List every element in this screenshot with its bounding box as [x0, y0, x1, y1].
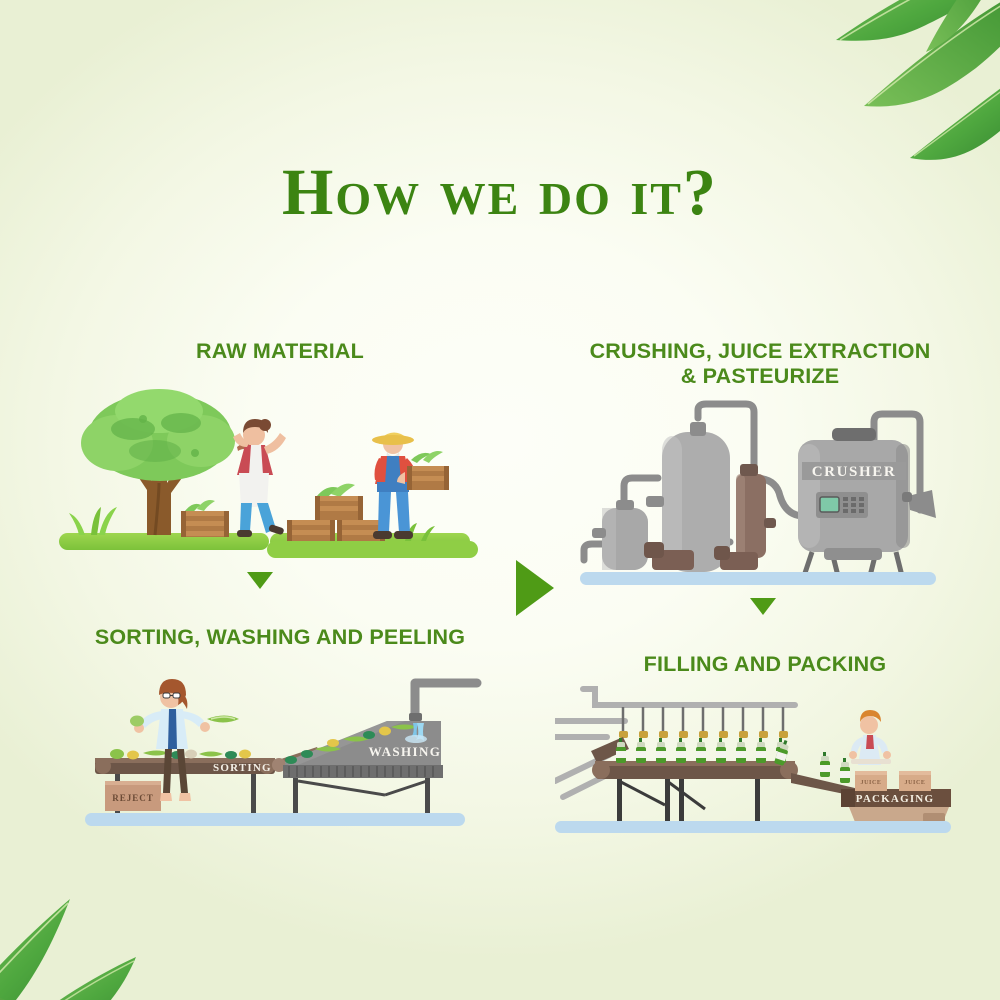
juice-box-right-label: JUICE [904, 780, 925, 786]
illustration-crates-farmer [265, 418, 480, 563]
arrow-right-stage-icon [516, 560, 554, 616]
page-title: How we do it? [0, 160, 1000, 226]
crusher-machine: CRUSHER [798, 428, 936, 576]
neem-leaves-top-right-icon [740, 0, 1000, 170]
reject-box-label: REJECT [112, 793, 154, 803]
illustration-sorting-washing: SORTING REJECT [85, 655, 485, 835]
produce-in-hand [130, 716, 144, 727]
arrow-down-crushing-to-filling-icon [750, 598, 776, 615]
section-label-raw-material: RAW MATERIAL [75, 339, 485, 364]
crushing-label-line2: & PASTEURIZE [681, 364, 840, 388]
factory-floor [580, 572, 936, 585]
juice-box-left-label: JUICE [860, 780, 881, 786]
ground-strip [267, 541, 478, 558]
section-label-crushing: CRUSHING, JUICE EXTRACTION & PASTEURIZE [560, 339, 960, 390]
section-label-sorting: SORTING, WASHING AND PEELING [55, 625, 505, 650]
infographic-canvas: How we do it? RAW MATERIAL SORTING, WASH… [0, 0, 1000, 1000]
juice-box-left: JUICE [855, 771, 887, 791]
packaging-table-label: PACKAGING [856, 793, 934, 805]
neem-leaves-bottom-left-icon [0, 825, 230, 1000]
factory-floor [85, 813, 465, 826]
small-tank [592, 500, 648, 570]
farmer-carrying-crate-icon [372, 432, 449, 539]
sorting-belt-label: SORTING [213, 762, 272, 774]
reject-box: REJECT [105, 781, 161, 811]
filling-conveyor [592, 761, 798, 821]
section-label-filling: FILLING AND PACKING [590, 652, 940, 677]
crushing-label-line1: CRUSHING, JUICE EXTRACTION [590, 339, 931, 363]
packing-worker-icon [849, 710, 891, 765]
arrow-down-raw-to-sorting-icon [247, 572, 273, 589]
illustration-crushing-extraction: CRUSHER [580, 400, 940, 590]
juice-box-right: JUICE [899, 771, 931, 791]
crate-near-tree [181, 500, 229, 537]
factory-floor [555, 821, 951, 833]
illustration-filling-packing: PACKAGING JUICE JUICE [555, 685, 955, 835]
filler-nozzles [619, 707, 788, 738]
washing-unit-label: WASHING [369, 744, 442, 759]
stacked-crates [287, 484, 385, 544]
crusher-label: CRUSHER [812, 464, 897, 480]
grass-tuft-icon [69, 507, 117, 535]
